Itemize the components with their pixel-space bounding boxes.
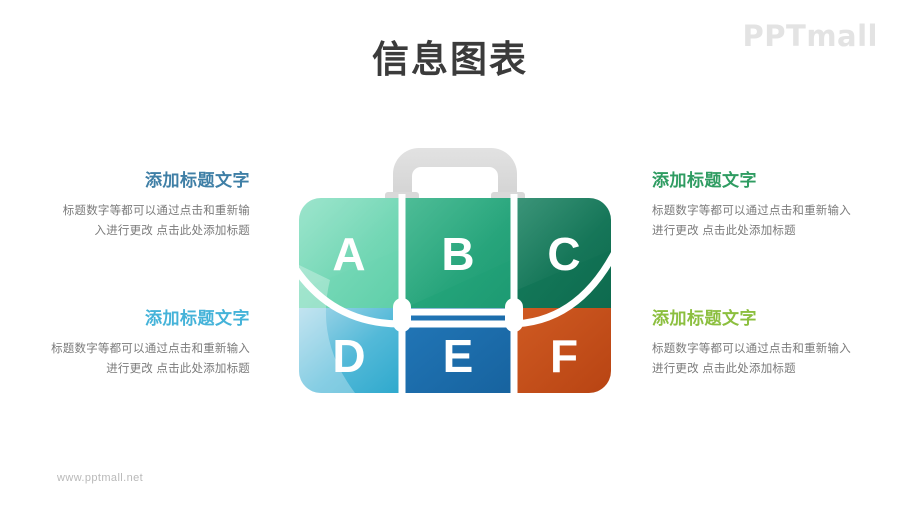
text-block-bottom-right[interactable]: 添加标题文字 标题数字等都可以通过点击和重新输入 进行更改 点击此处添加标题 [652,308,882,379]
segment-letter-F: F [550,330,578,382]
segment-letter-D: D [332,330,365,382]
text-block-body: 标题数字等都可以通过点击和重新输入 进行更改 点击此处添加标题 [652,201,882,241]
text-block-title: 添加标题文字 [20,308,250,330]
text-block-body: 标题数字等都可以通过点击和重新输 入进行更改 点击此处添加标题 [20,201,250,241]
segment-letter-E: E [443,330,474,382]
segment-letter-C: C [547,228,580,280]
text-block-title: 添加标题文字 [20,170,250,192]
text-block-bottom-left[interactable]: 添加标题文字 标题数字等都可以通过点击和重新输入 进行更改 点击此处添加标题 [20,308,250,379]
body-line-2: 进行更改 点击此处添加标题 [652,363,796,375]
body-line-2: 入进行更改 点击此处添加标题 [95,225,251,237]
body-line-2: 进行更改 点击此处添加标题 [106,363,250,375]
body-line-1: 标题数字等都可以通过点击和重新输入 [51,343,250,355]
text-block-body: 标题数字等都可以通过点击和重新输入 进行更改 点击此处添加标题 [652,339,882,379]
text-block-top-left[interactable]: 添加标题文字 标题数字等都可以通过点击和重新输 入进行更改 点击此处添加标题 [20,170,250,241]
briefcase-infographic[interactable]: A B C D E F [285,140,625,402]
footer-url[interactable]: www.pptmall.net [57,472,143,484]
clasp-right-icon [505,298,523,332]
clasp-left-icon [393,298,411,332]
text-block-body: 标题数字等都可以通过点击和重新输入 进行更改 点击此处添加标题 [20,339,250,379]
segment-letter-B: B [441,228,474,280]
page-title: 信息图表 [0,38,900,82]
body-line-2: 进行更改 点击此处添加标题 [652,225,796,237]
text-block-title: 添加标题文字 [652,170,882,192]
body-line-1: 标题数字等都可以通过点击和重新输入 [652,343,851,355]
briefcase-svg: A B C D E F [285,140,625,402]
briefcase-handle-icon [385,148,525,206]
slide-canvas: PPTmall 信息图表 添加标题文字 标题数字等都可以通过点击和重新输 入进行… [0,0,900,506]
body-line-1: 标题数字等都可以通过点击和重新输 [63,205,250,217]
text-block-top-right[interactable]: 添加标题文字 标题数字等都可以通过点击和重新输入 进行更改 点击此处添加标题 [652,170,882,241]
text-block-title: 添加标题文字 [652,308,882,330]
segment-letter-A: A [332,228,365,280]
body-line-1: 标题数字等都可以通过点击和重新输入 [652,205,851,217]
